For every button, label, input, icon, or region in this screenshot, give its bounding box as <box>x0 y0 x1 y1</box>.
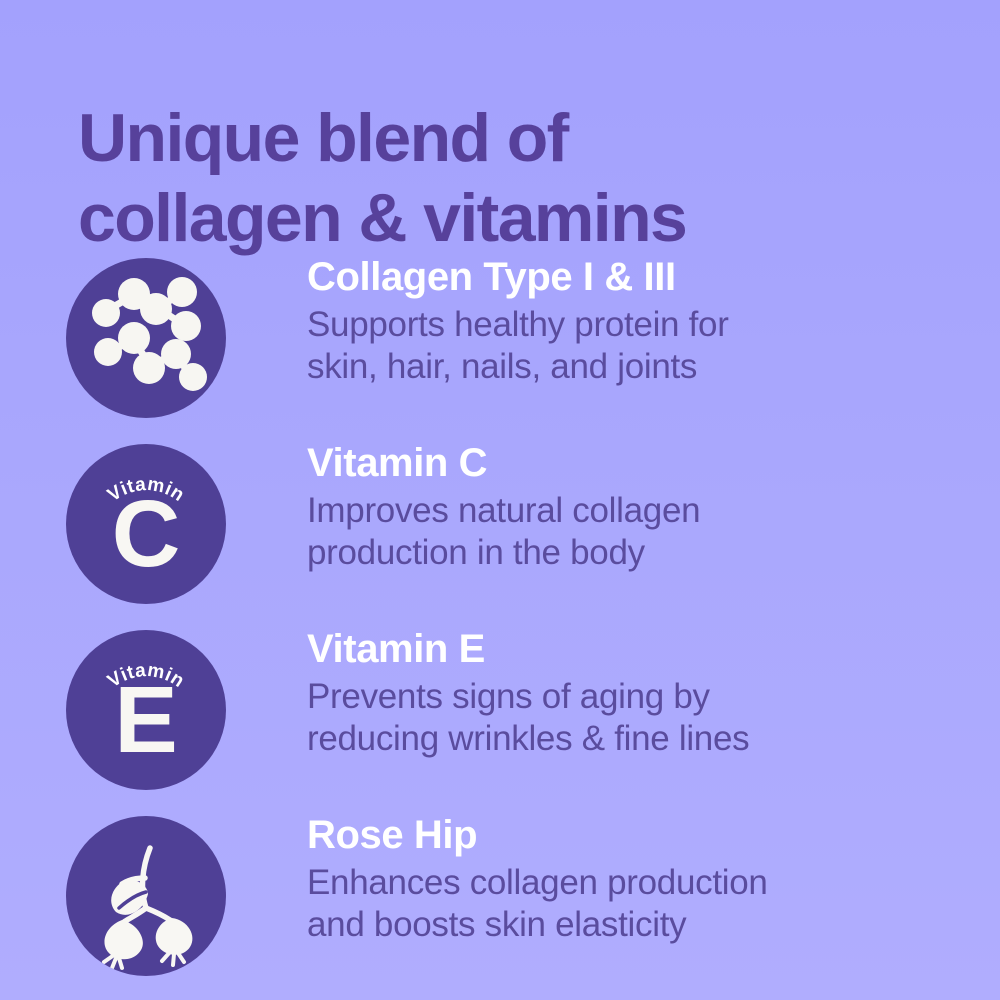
vitamin-e-icon: Vitamin E <box>66 630 226 790</box>
feature-description: Improves natural collagen production in … <box>307 490 1000 574</box>
feature-text: Rose Hip Enhances collagen production an… <box>226 806 1000 946</box>
feature-title: Rose Hip <box>307 810 1000 860</box>
vitamin-c-icon: Vitamin C <box>66 444 226 604</box>
list-item: Vitamin C Vitamin C Improves natural col… <box>0 434 1000 620</box>
list-item: Collagen Type I & III Supports healthy p… <box>0 248 1000 434</box>
infographic-panel: Unique blend of collagen & vitamins <box>0 0 1000 1000</box>
list-item: Rose Hip Enhances collagen production an… <box>0 806 1000 992</box>
feature-text: Collagen Type I & III Supports healthy p… <box>226 248 1000 388</box>
feature-description: Enhances collagen production and boosts … <box>307 862 1000 946</box>
feature-description: Prevents signs of aging by reducing wrin… <box>307 676 1000 760</box>
molecule-icon <box>66 258 226 418</box>
list-item: Vitamin E Vitamin E Prevents signs of ag… <box>0 620 1000 806</box>
vitamin-letter: E <box>114 667 177 773</box>
feature-description: Supports healthy protein for skin, hair,… <box>307 304 1000 388</box>
feature-list: Collagen Type I & III Supports healthy p… <box>0 248 1000 992</box>
page-title: Unique blend of collagen & vitamins <box>78 98 938 258</box>
vitamin-letter: C <box>112 481 181 587</box>
rose-hip-icon <box>66 816 226 976</box>
feature-title: Vitamin E <box>307 624 1000 674</box>
feature-text: Vitamin E Prevents signs of aging by red… <box>226 620 1000 760</box>
feature-text: Vitamin C Improves natural collagen prod… <box>226 434 1000 574</box>
feature-title: Vitamin C <box>307 438 1000 488</box>
feature-title: Collagen Type I & III <box>307 252 1000 302</box>
